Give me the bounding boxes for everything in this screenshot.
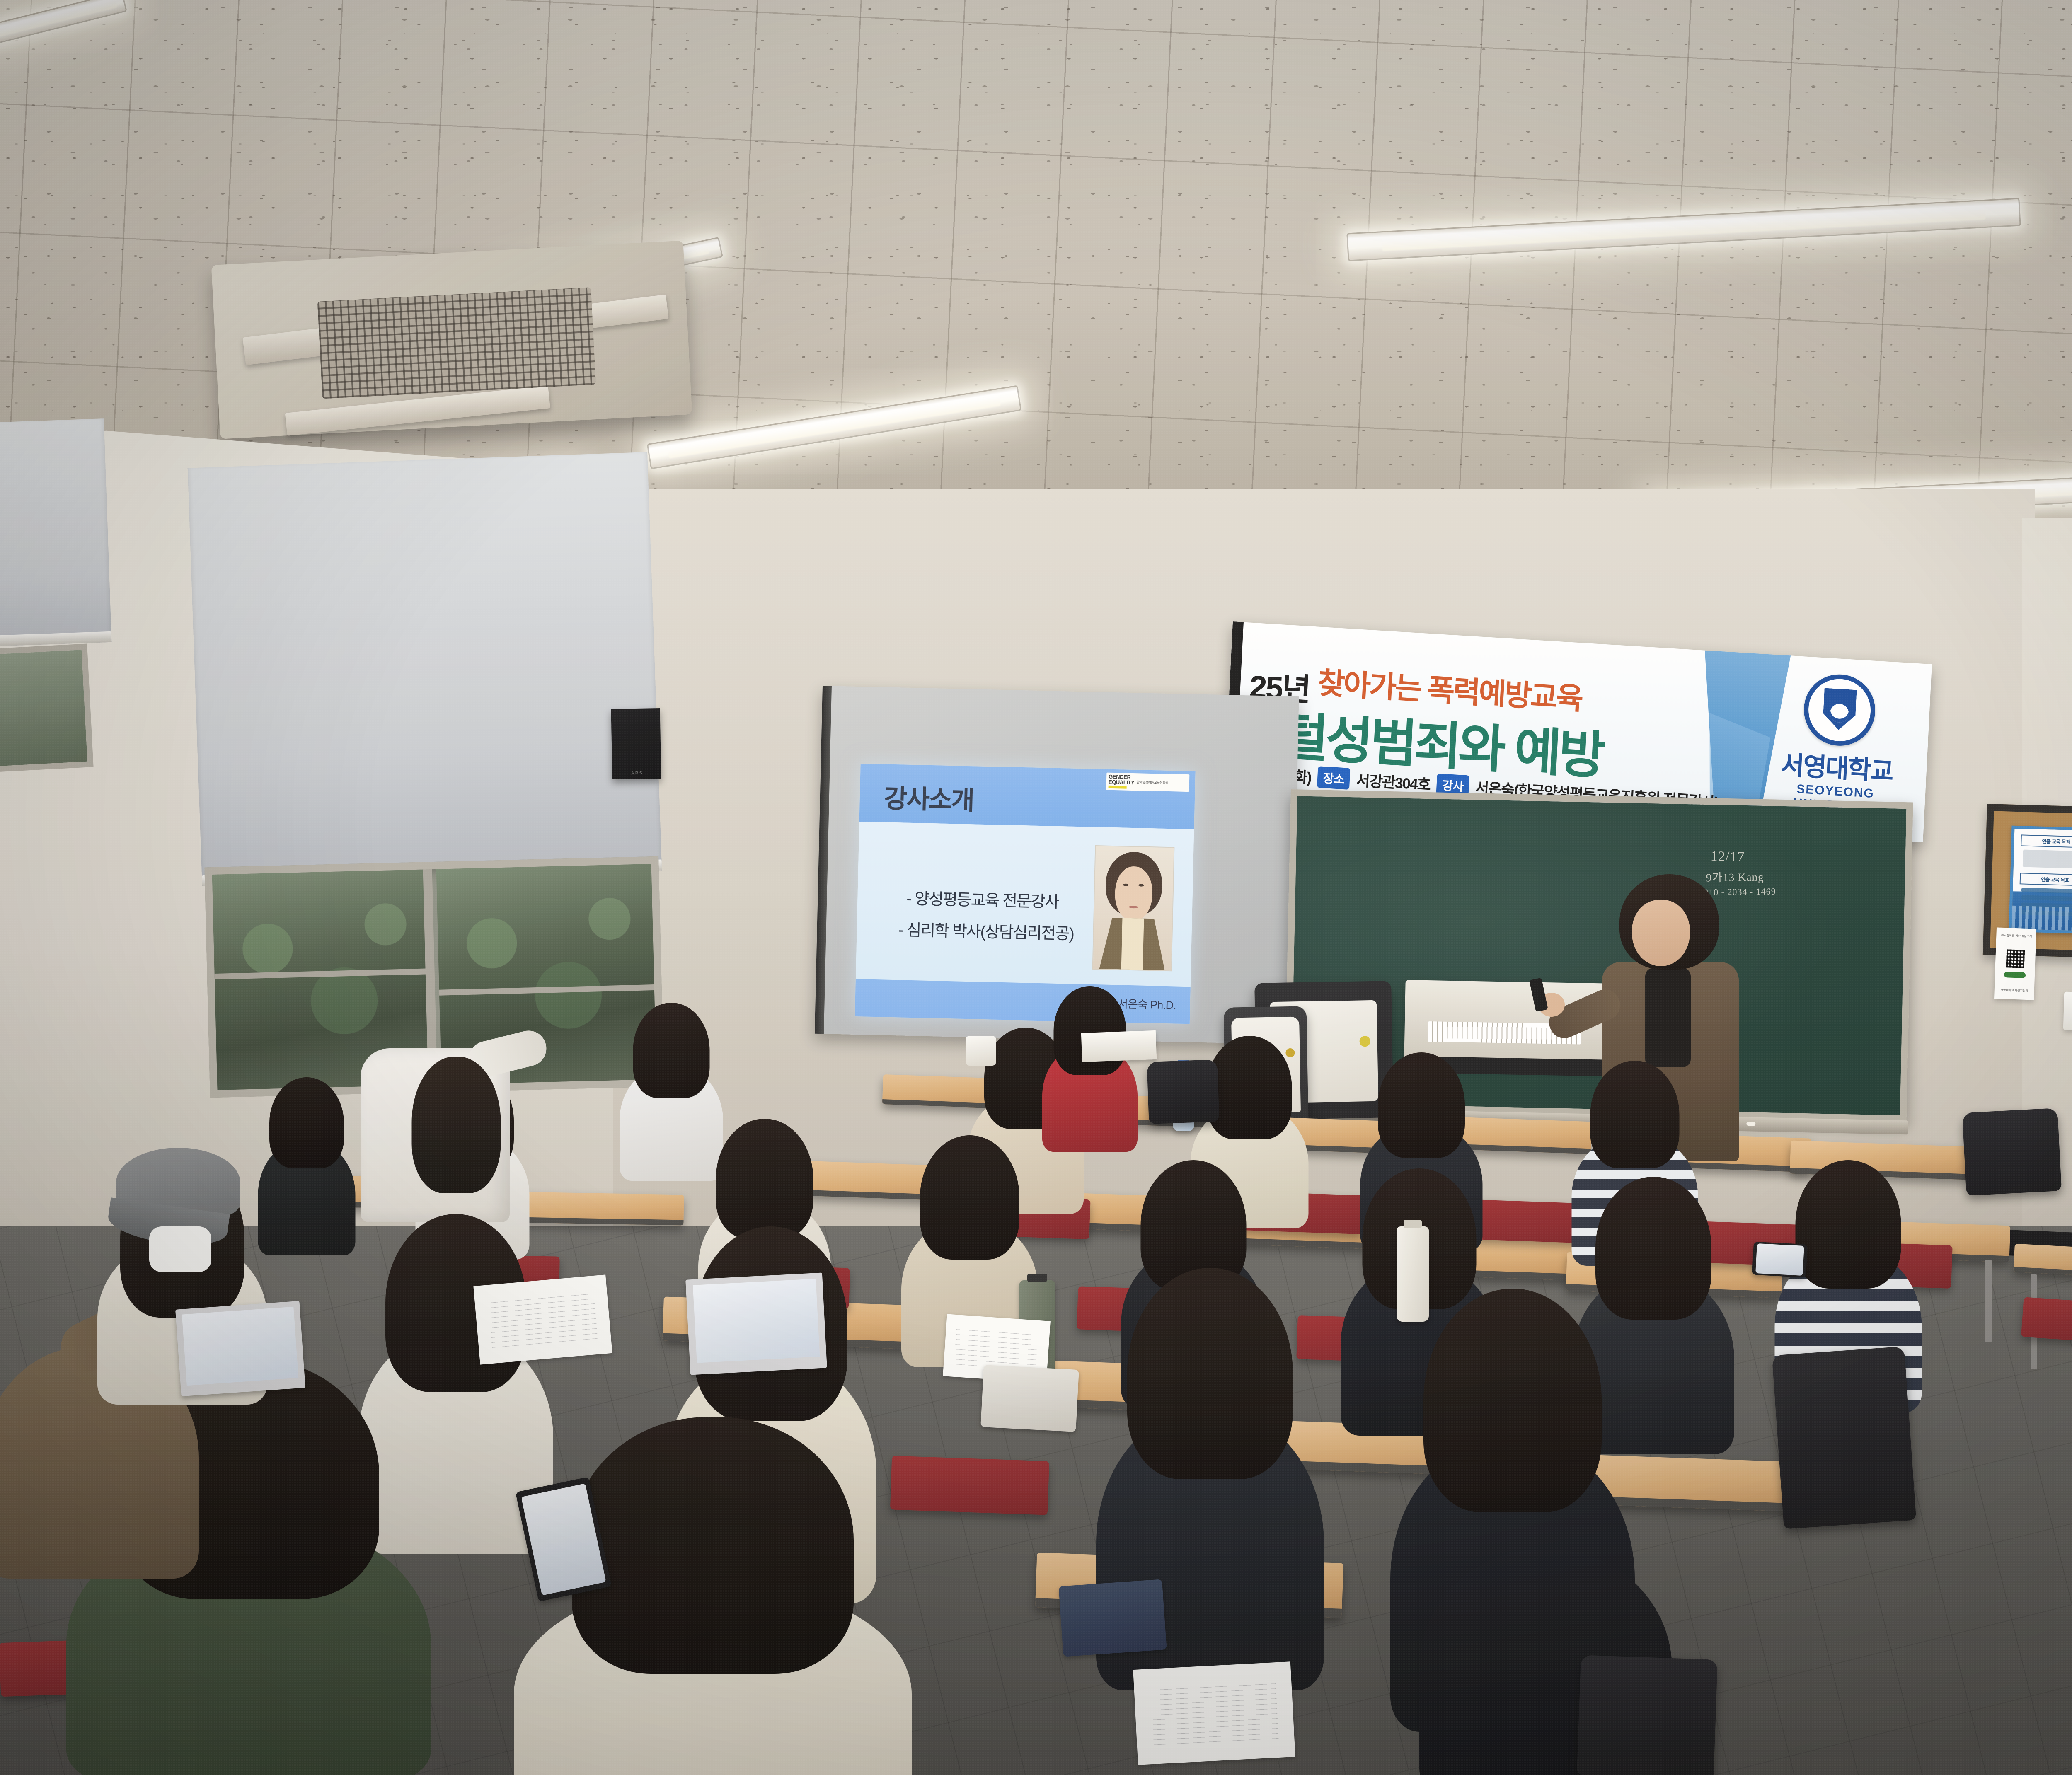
qr-action-button[interactable] <box>2004 972 2026 978</box>
instructor-portrait <box>1092 845 1175 971</box>
presentation-slide: 강사소개 GENDER EQUALITY 한국양성평등교육진흥원 - 양성평등교… <box>855 764 1196 1024</box>
qr-caption-bottom: 서영대학교 학생지원팀 <box>1995 988 2034 993</box>
laptop[interactable] <box>685 1273 827 1375</box>
face-mask <box>149 1226 211 1272</box>
dispenser-label: hand sanitizer <box>2063 1021 2072 1026</box>
instructor-inner-top <box>1645 968 1691 1067</box>
student <box>257 1077 356 1243</box>
classroom-photo: A.R.S 25년 찾아가는 폭력예방교육 디털성범죄와 예방 1월25일(화)… <box>0 0 2072 1775</box>
notice-poster-left: 인출 교육 목적 인출 교육 목표 <box>2009 826 2072 934</box>
slide-logo-org: 한국양성평등교육진흥원 <box>1136 780 1168 785</box>
paper-stack <box>1081 1030 1157 1062</box>
student-foreground-cream <box>510 1417 916 1775</box>
slide-bullet-2: - 심리학 박사(상담심리전공) <box>898 917 1074 944</box>
qr-caption-top: 교육 참여를 위한 설문조사 <box>1996 933 2036 938</box>
gender-equality-logo: GENDER EQUALITY 한국양성평등교육진흥원 <box>1106 773 1189 792</box>
banner-place-chip: 장소 <box>1317 766 1350 790</box>
wall-dispenser[interactable]: hand sanitizer <box>2063 992 2072 1031</box>
smartphone[interactable] <box>1752 1242 1808 1278</box>
small-window <box>0 643 94 772</box>
poster-title-bottom: 인출 교육 목표 <box>2020 873 2072 886</box>
slide-body: - 양성평등교육 전문강사 - 심리학 박사(상담심리전공) <box>856 822 1194 987</box>
ceiling-ac-cassette <box>211 240 692 439</box>
university-logo: 서영대학교 SEOYEONG UNIVERSITY <box>1766 670 1910 817</box>
student-raising-arm <box>348 986 535 1218</box>
window-blind[interactable] <box>188 452 662 886</box>
thermos-bottle[interactable] <box>1397 1226 1429 1322</box>
slide-title: 강사소개 <box>884 777 974 817</box>
tissue-roll <box>966 1036 996 1066</box>
handout[interactable] <box>1133 1661 1295 1765</box>
instructor-face <box>1632 900 1690 966</box>
chalk-line-1: 12/17 <box>1710 849 1745 865</box>
slide-footer-band: 우재 서은숙 Ph.D. <box>855 979 1191 1024</box>
qr-code-icon <box>2006 949 2025 968</box>
backpack[interactable] <box>1147 1059 1219 1124</box>
student <box>1040 986 1140 1144</box>
pencil-case[interactable] <box>1058 1579 1167 1657</box>
speaker-brand-label: A.R.S <box>612 771 661 776</box>
wall-speaker: A.R.S <box>611 708 661 779</box>
university-seal-icon <box>1802 672 1877 748</box>
desk-leg <box>1985 1260 1992 1342</box>
handout[interactable] <box>473 1274 612 1364</box>
slide-bullet-1: - 양성평등교육 전문강사 <box>906 886 1059 912</box>
slide-logo-secondary: EQUALITY <box>1109 779 1135 785</box>
poster-title-top: 인출 교육 목적 <box>2021 834 2072 848</box>
backpack[interactable] <box>1962 1108 2062 1196</box>
qr-code-poster: 교육 참여를 위한 설문조사 서영대학교 학생지원팀 <box>1994 927 2036 1000</box>
backpack[interactable] <box>1577 1655 1718 1775</box>
backpack[interactable] <box>1772 1346 1917 1529</box>
window-blind[interactable] <box>0 418 111 646</box>
pencil-case[interactable] <box>980 1365 1079 1432</box>
laptop[interactable] <box>175 1301 305 1396</box>
